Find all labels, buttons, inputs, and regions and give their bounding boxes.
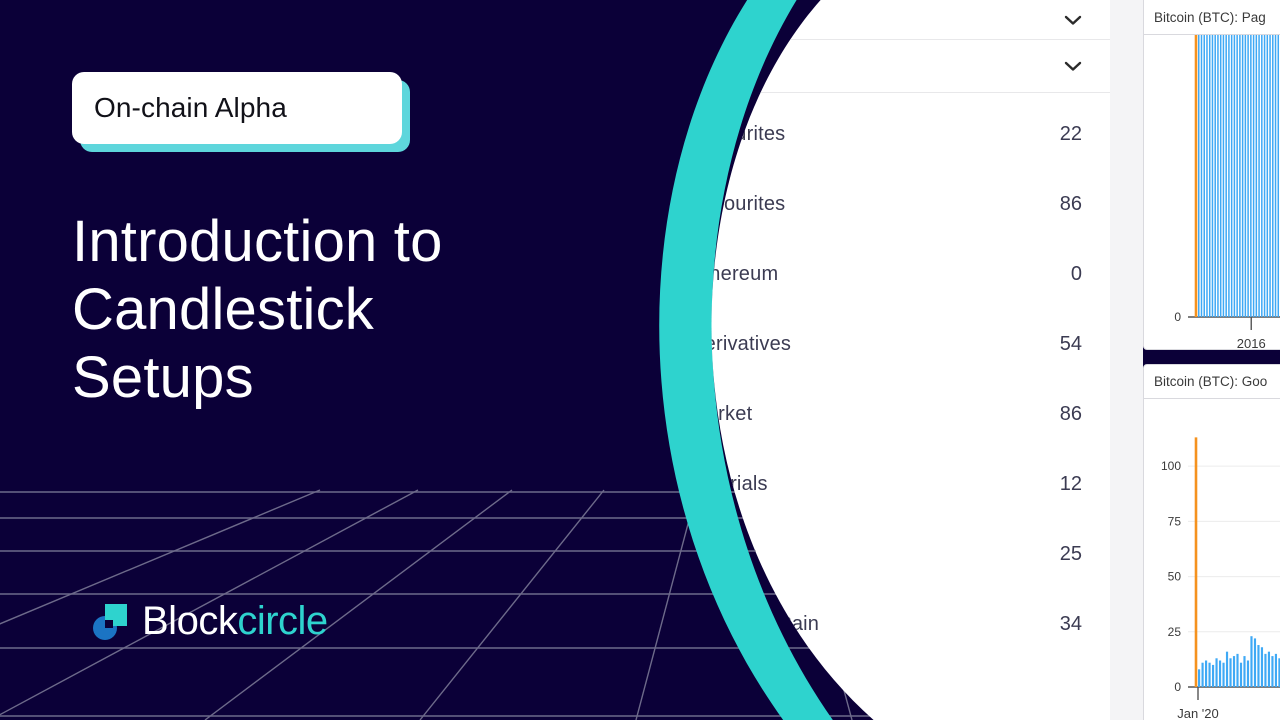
hero-section: On-chain Alpha Introduction to Candlesti… (0, 0, 640, 720)
chart-card-bitcoin-google[interactable]: Bitcoin (BTC): Goo 0255075100Jan '20 (1143, 364, 1280, 720)
brand-name-secondary: circle (237, 599, 327, 643)
brand-logo: Blockcircle (92, 600, 328, 642)
badge-container: On-chain Alpha (72, 72, 402, 144)
bar-chart-canvas: 0100k200k300k2016 (1144, 35, 1280, 350)
chevron-down-icon[interactable] (1064, 60, 1082, 72)
chart-plot-area: 0100k200k300k2016 (1144, 35, 1280, 350)
page-title-line-3: Setups (72, 344, 612, 412)
screenshot-stage: On-chain Alpha Introduction to Candlesti… (0, 0, 1280, 720)
app-screenshot-region: Favourites 22 Favourites 86 (640, 0, 1280, 720)
svg-text:25: 25 (1168, 625, 1182, 639)
chevron-down-icon[interactable] (1064, 14, 1082, 26)
badge-label: On-chain Alpha (94, 92, 287, 124)
svg-text:50: 50 (1168, 570, 1182, 584)
svg-text:75: 75 (1168, 514, 1182, 528)
blockcircle-logo-icon (92, 600, 130, 642)
svg-text:100: 100 (1161, 459, 1181, 473)
panel-chart-gutter (1110, 0, 1143, 720)
svg-text:0: 0 (1174, 310, 1181, 324)
on-chain-alpha-badge: On-chain Alpha (72, 72, 402, 144)
chart-card-bitcoin-pages[interactable]: Bitcoin (BTC): Pag 0100k200k300k2016 (1143, 0, 1280, 350)
chart-title: Bitcoin (BTC): Goo (1144, 365, 1280, 399)
list-item-count: 86 (1060, 193, 1082, 216)
bar-chart-canvas: 0255075100Jan '20 (1144, 399, 1280, 720)
page-title-line-2: Candlestick (72, 276, 612, 344)
page-title-line-1: Introduction to (72, 208, 612, 276)
svg-text:2016: 2016 (1237, 336, 1266, 350)
svg-text:0: 0 (1174, 680, 1181, 694)
list-item-count: 34 (1060, 613, 1082, 636)
list-item-label: Tutorials (690, 473, 1046, 496)
chart-title: Bitcoin (BTC): Pag (1144, 1, 1280, 35)
list-item-label: Market (690, 403, 1046, 426)
list-item-count: 0 (1071, 263, 1082, 286)
list-item-count: 22 (1060, 123, 1082, 146)
brand-name: Blockcircle (142, 600, 328, 642)
page-title: Introduction to Candlestick Setups (72, 208, 612, 412)
list-item-label: Derivatives (690, 333, 1046, 356)
brand-name-primary: Block (142, 599, 237, 643)
svg-text:Jan '20: Jan '20 (1177, 706, 1219, 720)
list-item-count: 25 (1060, 543, 1082, 566)
list-item-count: 12 (1060, 473, 1082, 496)
list-item-label: Favourites (690, 193, 1046, 216)
list-item-count: 54 (1060, 333, 1082, 356)
chart-plot-area: 0255075100Jan '20 (1144, 399, 1280, 720)
list-item-count: 86 (1060, 403, 1082, 426)
list-item-label: Ethereum (690, 263, 1057, 286)
